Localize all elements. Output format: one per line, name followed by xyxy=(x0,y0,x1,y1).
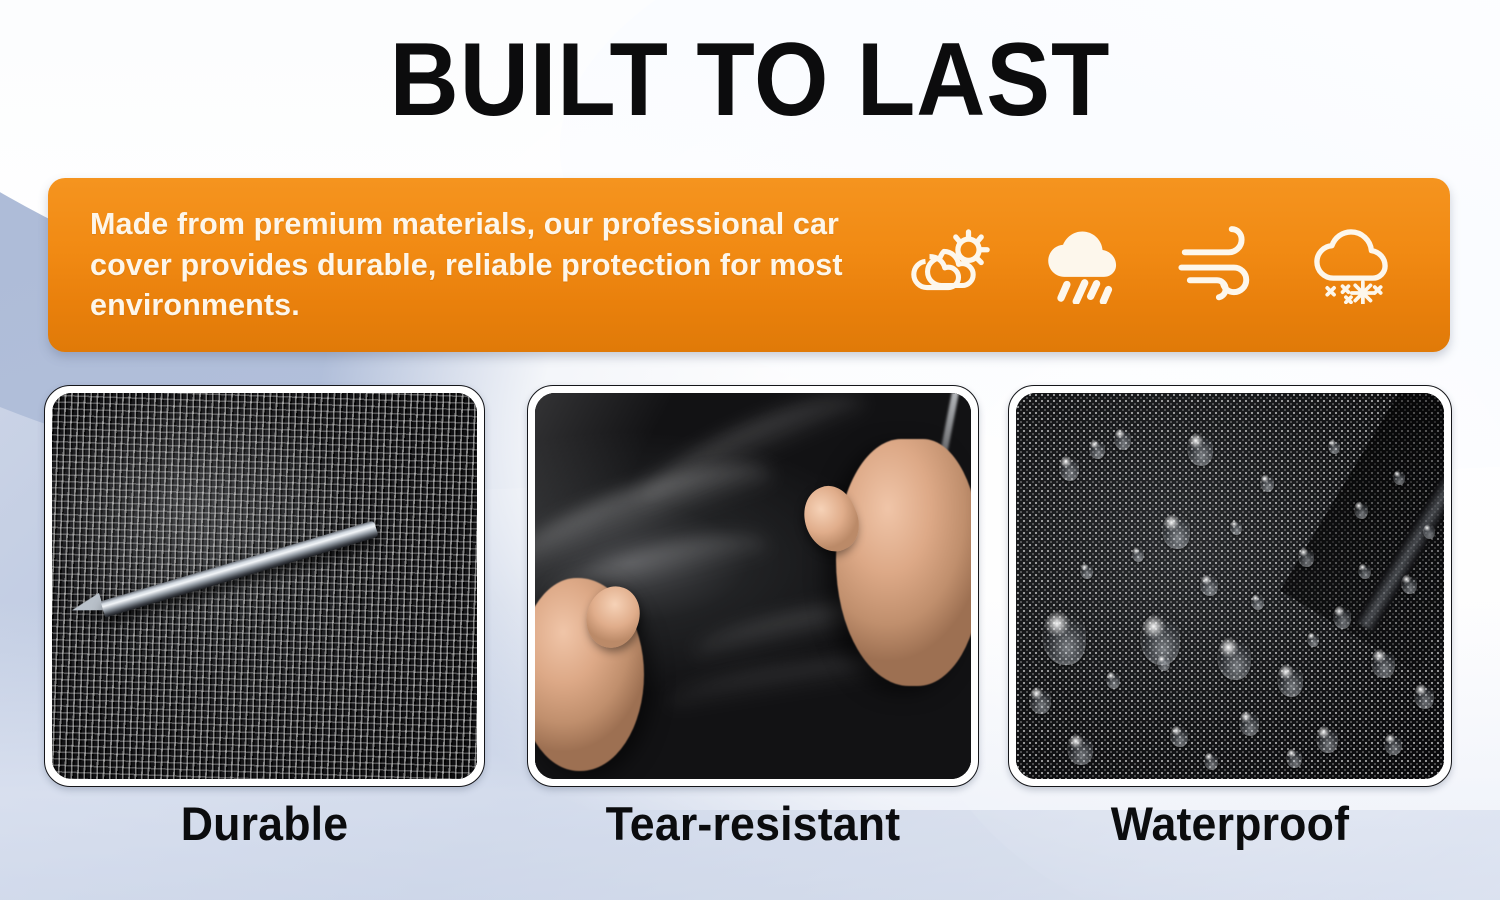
water-droplet xyxy=(1089,439,1105,459)
water-droplet xyxy=(1042,609,1086,665)
water-droplet xyxy=(1286,748,1302,768)
feature-card-tear-resistant xyxy=(527,385,979,787)
water-droplet xyxy=(1230,520,1242,535)
feature-label-durable: Durable xyxy=(55,795,474,853)
feature-label-waterproof: Waterproof xyxy=(1019,795,1441,853)
weather-icon-row xyxy=(906,226,1416,304)
feature-banner: Made from premium materials, our profess… xyxy=(48,178,1450,352)
water-droplet xyxy=(1200,574,1218,596)
infographic-canvas: BUILT TO LAST Made from premium material… xyxy=(0,0,1500,900)
water-droplet xyxy=(1354,501,1368,519)
water-droplet xyxy=(1307,632,1319,647)
water-droplet xyxy=(1204,752,1218,770)
water-droplet xyxy=(1170,725,1188,747)
water-droplet xyxy=(1316,725,1338,753)
feature-card-waterproof xyxy=(1008,385,1452,787)
water-droplet xyxy=(1328,439,1340,454)
water-droplet xyxy=(1333,605,1351,629)
water-droplet xyxy=(1029,686,1051,714)
feature-label-row: Durable Tear-resistant Waterproof xyxy=(0,795,1500,865)
wind-icon xyxy=(1174,226,1260,304)
water-droplet xyxy=(1371,648,1395,678)
water-droplet xyxy=(1384,733,1402,755)
water-droplet xyxy=(1162,513,1190,549)
water-droplet xyxy=(1059,455,1079,481)
water-droplet xyxy=(1217,636,1251,680)
water-droplet xyxy=(1401,574,1417,594)
water-droplet xyxy=(1260,474,1274,492)
water-droplet xyxy=(1114,428,1131,450)
water-droplet xyxy=(1358,563,1371,579)
water-droplet xyxy=(1132,547,1144,562)
fabric-sheen xyxy=(52,393,477,779)
tear-resistant-photo xyxy=(535,393,971,779)
water-droplet xyxy=(1414,683,1434,709)
water-droplet xyxy=(1067,733,1093,765)
banner-description: Made from premium materials, our profess… xyxy=(90,204,906,326)
water-droplet xyxy=(1251,594,1264,610)
water-droplet xyxy=(1393,470,1405,485)
water-droplet xyxy=(1157,655,1170,671)
sun-behind-cloud-icon xyxy=(906,226,992,304)
waterproof-photo xyxy=(1016,393,1444,779)
water-droplet xyxy=(1423,524,1435,539)
feature-card-row xyxy=(0,385,1500,795)
snow-cloud-icon xyxy=(1308,226,1394,304)
rain-cloud-icon xyxy=(1040,226,1126,304)
water-droplet xyxy=(1106,671,1120,689)
water-droplet xyxy=(1277,663,1303,697)
durable-photo xyxy=(52,393,477,779)
water-droplet xyxy=(1298,547,1314,567)
water-droplet xyxy=(1239,710,1259,736)
water-droplet xyxy=(1080,563,1093,579)
water-droplet xyxy=(1187,432,1213,466)
feature-label-tear-resistant: Tear-resistant xyxy=(538,795,967,853)
feature-card-durable xyxy=(44,385,485,787)
page-title: BUILT TO LAST xyxy=(60,28,1440,132)
